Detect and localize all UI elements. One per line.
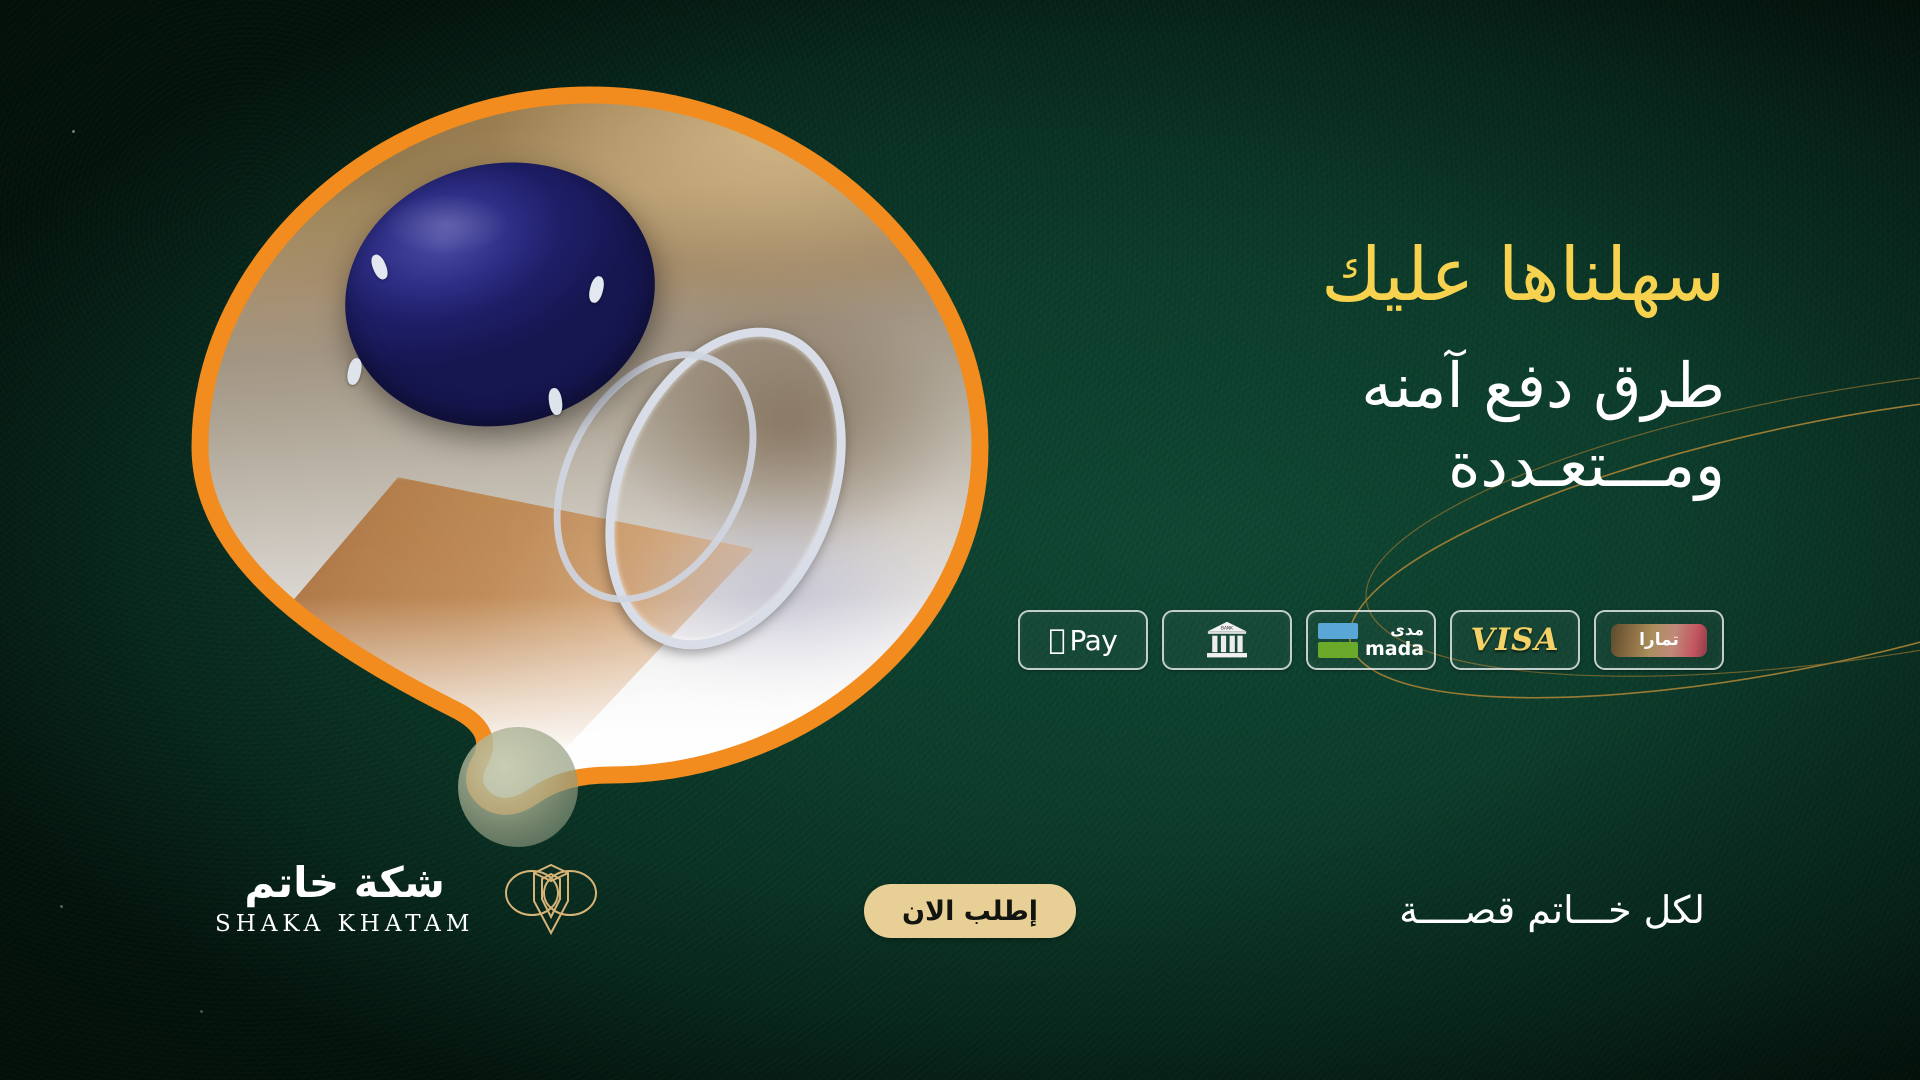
payment-badge-bank[interactable]: BANK xyxy=(1162,610,1292,670)
sparkle-dot xyxy=(200,1010,203,1013)
visa-icon: VISA xyxy=(1471,622,1560,658)
sparkle-dot xyxy=(60,905,63,908)
diamond-gem-logo-icon xyxy=(496,855,606,943)
bank-transfer-icon: BANK xyxy=(1206,620,1248,660)
mada-label-ar: مدى xyxy=(1365,622,1424,638)
payment-badge-tamara[interactable]: تمارا xyxy=(1594,610,1724,670)
tagline-text: لكل خـــاتم قصــــة xyxy=(1399,888,1705,932)
brand-name-english: SHAKA KHATAM xyxy=(215,913,474,936)
brand-wordmark: شكة خاتم SHAKA KHATAM xyxy=(215,862,474,936)
headline-secondary: طرق دفع آمنه ومـــتعـددة xyxy=(955,346,1725,505)
payment-methods-row: تمارا VISA مدى mada xyxy=(1018,610,1724,670)
mada-wordmark: مدى mada xyxy=(1365,622,1424,659)
sparkle-dot xyxy=(72,130,75,133)
headline-block: سهلناها عليك طرق دفع آمنه ومـــتعـددة xyxy=(955,236,1725,505)
tamara-icon: تمارا xyxy=(1611,624,1707,657)
svg-text:BANK: BANK xyxy=(1221,626,1233,632)
decorative-circle xyxy=(458,727,578,847)
apple-pay-label: Pay xyxy=(1069,624,1117,657)
brand-lockup: شكة خاتم SHAKA KHATAM xyxy=(215,855,606,943)
payment-badge-applepay[interactable]:  Pay xyxy=(1018,610,1148,670)
bubble-shape xyxy=(180,75,1000,820)
mada-label-en: mada xyxy=(1365,640,1424,659)
mada-icon: مدى mada xyxy=(1318,622,1424,659)
payment-badge-mada[interactable]: مدى mada xyxy=(1306,610,1436,670)
apple-pay-icon:  Pay xyxy=(1049,624,1118,657)
brand-name-arabic: شكة خاتم xyxy=(244,862,445,904)
order-now-button[interactable]: إطلب الان xyxy=(864,884,1076,938)
tamara-label: تمارا xyxy=(1639,630,1679,650)
mada-bars xyxy=(1318,623,1358,658)
headline-line-2: طرق دفع آمنه xyxy=(955,346,1725,425)
product-speech-bubble xyxy=(180,75,1000,820)
promo-banner: سهلناها عليك طرق دفع آمنه ومـــتعـددة تم… xyxy=(0,0,1920,1080)
headline-line-3: ومـــتعـددة xyxy=(955,425,1725,504)
headline-primary: سهلناها عليك xyxy=(955,236,1725,316)
payment-badge-visa[interactable]: VISA xyxy=(1450,610,1580,670)
apple-logo-icon:  xyxy=(1049,626,1066,654)
